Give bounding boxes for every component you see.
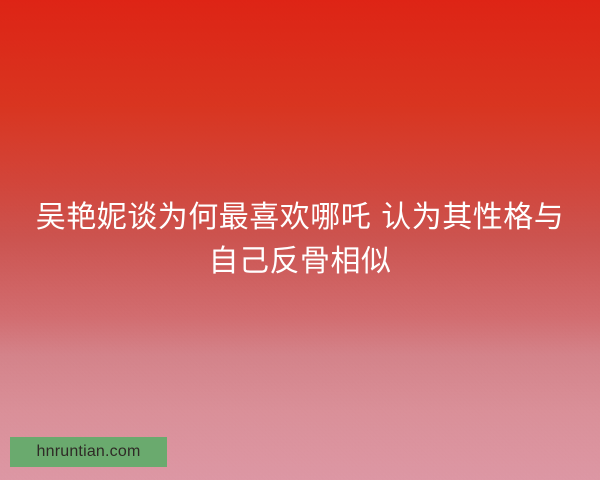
- watermark-label: hnruntian.com: [37, 444, 141, 460]
- headline-title: 吴艳妮谈为何最喜欢哪吒 认为其性格与 自己反骨相似: [0, 196, 600, 284]
- watermark-badge: hnruntian.com: [10, 437, 167, 467]
- image-card: 吴艳妮谈为何最喜欢哪吒 认为其性格与 自己反骨相似 hnruntian.com: [0, 0, 600, 480]
